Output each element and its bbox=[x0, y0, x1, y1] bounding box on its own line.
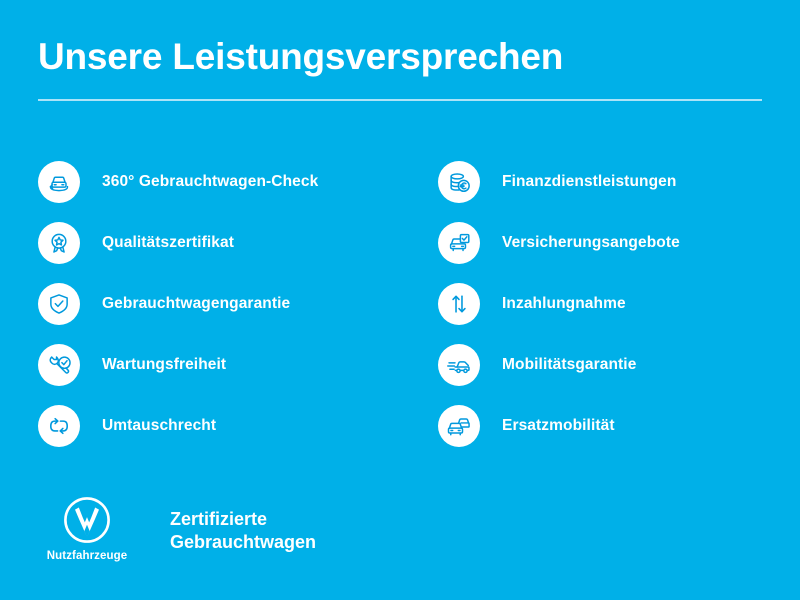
coins-euro-icon bbox=[438, 161, 480, 203]
footer-tagline-line1: Zertifizierte bbox=[170, 508, 316, 531]
footer-tagline-line2: Gebrauchtwagen bbox=[170, 531, 316, 554]
benefit-item-insurance-offers[interactable]: Versicherungsangebote bbox=[438, 213, 768, 273]
brand-sub-label: Nutzfahrzeuge bbox=[47, 550, 128, 562]
benefit-label: Finanzdienstleistungen bbox=[502, 173, 676, 191]
benefit-label: Mobilitätsgarantie bbox=[502, 356, 636, 374]
benefits-left-column: 360° Gebrauchtwagen-Check Qualitätszerti… bbox=[38, 152, 438, 457]
slide-header: Unsere Leistungsversprechen bbox=[38, 38, 762, 101]
title-divider bbox=[38, 99, 762, 101]
benefit-item-quality-certificate[interactable]: Qualitätszertifikat bbox=[38, 213, 438, 273]
benefit-item-financial-services[interactable]: Finanzdienstleistungen bbox=[438, 152, 768, 212]
shield-check-icon bbox=[38, 283, 80, 325]
benefit-label: Inzahlungnahme bbox=[502, 295, 626, 313]
benefit-item-return-right[interactable]: Umtauschrecht bbox=[38, 396, 438, 456]
benefit-item-maintenance-free[interactable]: Wartungsfreiheit bbox=[38, 335, 438, 395]
benefit-label: Versicherungsangebote bbox=[502, 234, 680, 252]
footer-tagline: Zertifizierte Gebrauchtwagen bbox=[170, 508, 316, 554]
benefit-label: Gebrauchtwagengarantie bbox=[102, 295, 290, 313]
benefit-item-mobility-guarantee[interactable]: Mobilitätsgarantie bbox=[438, 335, 768, 395]
benefits-right-column: Finanzdienstleistungen Versicheru bbox=[438, 152, 768, 457]
benefit-label: 360° Gebrauchtwagen-Check bbox=[102, 173, 318, 191]
slide-footer: Nutzfahrzeuge Zertifizierte Gebrauchtwag… bbox=[38, 496, 316, 562]
car-360-check-icon bbox=[38, 161, 80, 203]
benefit-item-replacement-mobility[interactable]: Ersatzmobilität bbox=[438, 396, 768, 456]
benefit-label: Qualitätszertifikat bbox=[102, 234, 234, 252]
wrench-check-icon bbox=[38, 344, 80, 386]
car-motion-icon bbox=[438, 344, 480, 386]
car-insurance-check-icon bbox=[438, 222, 480, 264]
benefit-item-360-check[interactable]: 360° Gebrauchtwagen-Check bbox=[38, 152, 438, 212]
benefit-label: Wartungsfreiheit bbox=[102, 356, 226, 374]
two-cars-icon bbox=[438, 405, 480, 447]
benefits-grid: 360° Gebrauchtwagen-Check Qualitätszerti… bbox=[38, 152, 768, 457]
benefit-label: Ersatzmobilität bbox=[502, 417, 615, 435]
benefit-label: Umtauschrecht bbox=[102, 417, 216, 435]
benefit-item-trade-in[interactable]: Inzahlungnahme bbox=[438, 274, 768, 334]
benefit-item-warranty[interactable]: Gebrauchtwagengarantie bbox=[38, 274, 438, 334]
page-title: Unsere Leistungsversprechen bbox=[38, 38, 762, 77]
slide-canvas: Unsere Leistungsversprechen 360° Gebrauc bbox=[0, 0, 800, 600]
volkswagen-roundel-icon bbox=[63, 496, 111, 544]
quality-seal-icon bbox=[38, 222, 80, 264]
exchange-arrows-icon bbox=[38, 405, 80, 447]
up-down-arrows-icon bbox=[438, 283, 480, 325]
brand-logo-block: Nutzfahrzeuge bbox=[38, 496, 136, 562]
